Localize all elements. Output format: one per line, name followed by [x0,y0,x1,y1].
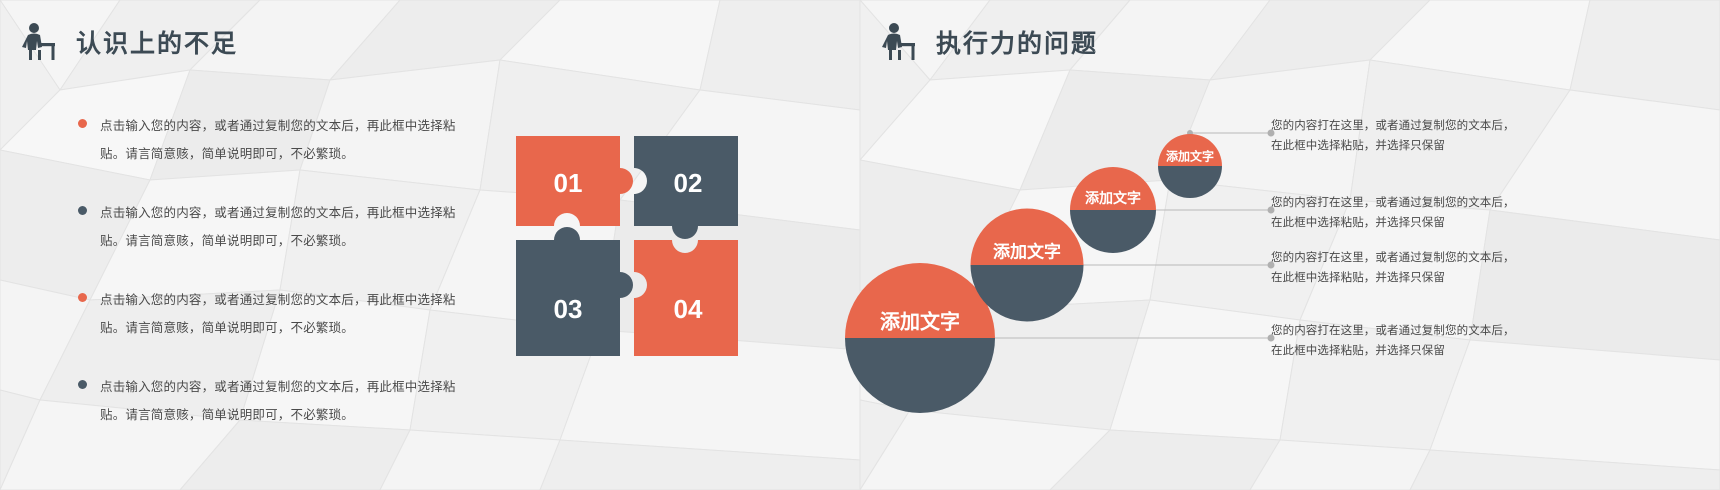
circle-label-4: 添加文字 [1166,148,1214,165]
circle-label-3: 添加文字 [1085,188,1141,208]
description-line-2: 在此框中选择粘贴，并选择只保留 [1271,341,1556,361]
description-line-2: 在此框中选择粘贴，并选择只保留 [1271,213,1556,233]
description-line-1: 您的内容打在这里，或者通过复制您的文本后， [1271,321,1556,341]
circle-label-2: 添加文字 [993,238,1061,263]
description-item: 您的内容打在这里，或者通过复制您的文本后， 在此框中选择粘贴，并选择只保留 [1271,193,1556,233]
description-list: 您的内容打在这里，或者通过复制您的文本后， 在此框中选择粘贴，并选择只保留 您的… [1271,0,1571,490]
description-line-1: 您的内容打在这里，或者通过复制您的文本后， [1271,193,1556,213]
description-item: 您的内容打在这里，或者通过复制您的文本后， 在此框中选择粘贴，并选择只保留 [1271,321,1556,361]
description-item: 您的内容打在这里，或者通过复制您的文本后， 在此框中选择粘贴，并选择只保留 [1271,248,1556,288]
description-line-2: 在此框中选择粘贴，并选择只保留 [1271,268,1556,288]
description-line-2: 在此框中选择粘贴，并选择只保留 [1271,136,1556,156]
description-line-1: 您的内容打在这里，或者通过复制您的文本后， [1271,248,1556,268]
slide-deck: 认识上的不足 点击输入您的内容，或者通过复制您的文本后，再此框中选择粘贴。请言简… [0,0,1720,490]
circle-label-1: 添加文字 [880,306,960,335]
description-item: 您的内容打在这里，或者通过复制您的文本后， 在此框中选择粘贴，并选择只保留 [1271,116,1556,156]
description-line-1: 您的内容打在这里，或者通过复制您的文本后， [1271,116,1556,136]
